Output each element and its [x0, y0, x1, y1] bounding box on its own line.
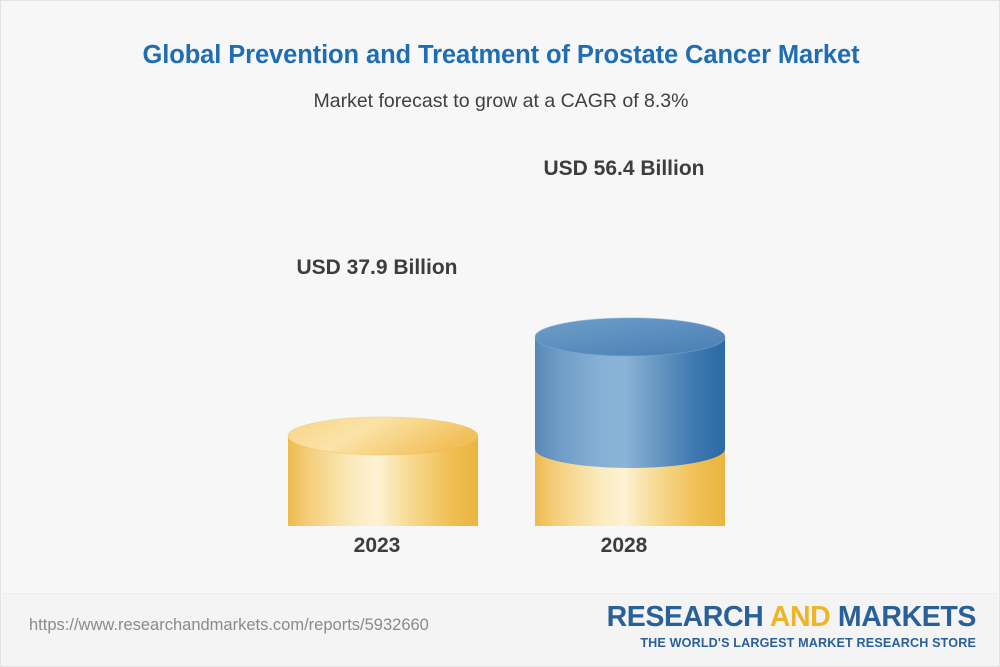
brand-name-part2: MARKETS — [830, 601, 976, 633]
brand-name-part1: RESEARCH — [607, 601, 770, 633]
category-label-2023: 2023 — [286, 534, 468, 558]
page-title: Global Prevention and Treatment of Prost… — [1, 41, 1000, 70]
source-url-link[interactable]: https://www.researchandmarkets.com/repor… — [29, 616, 429, 635]
brand-name-accent: AND — [770, 601, 831, 633]
brand-logo[interactable]: RESEARCH AND MARKETS THE WORLD'S LARGEST… — [607, 601, 976, 650]
chart-subtitle: Market forecast to grow at a CAGR of 8.3… — [1, 90, 1000, 113]
category-label-2028: 2028 — [533, 534, 715, 558]
brand-tagline: THE WORLD'S LARGEST MARKET RESEARCH STOR… — [607, 636, 976, 650]
bar-cylinder-2023 — [276, 296, 491, 526]
chart-canvas: Global Prevention and Treatment of Prost… — [0, 0, 1000, 667]
brand-name: RESEARCH AND MARKETS — [607, 601, 976, 634]
footer-bar: https://www.researchandmarkets.com/repor… — [2, 593, 998, 667]
data-label-2023: USD 37.9 Billion — [286, 256, 468, 280]
data-label-2028: USD 56.4 Billion — [533, 157, 715, 181]
plot-area: USD 37.9 Billion — [1, 131, 1000, 591]
bar-cylinder-2028 — [523, 194, 738, 526]
